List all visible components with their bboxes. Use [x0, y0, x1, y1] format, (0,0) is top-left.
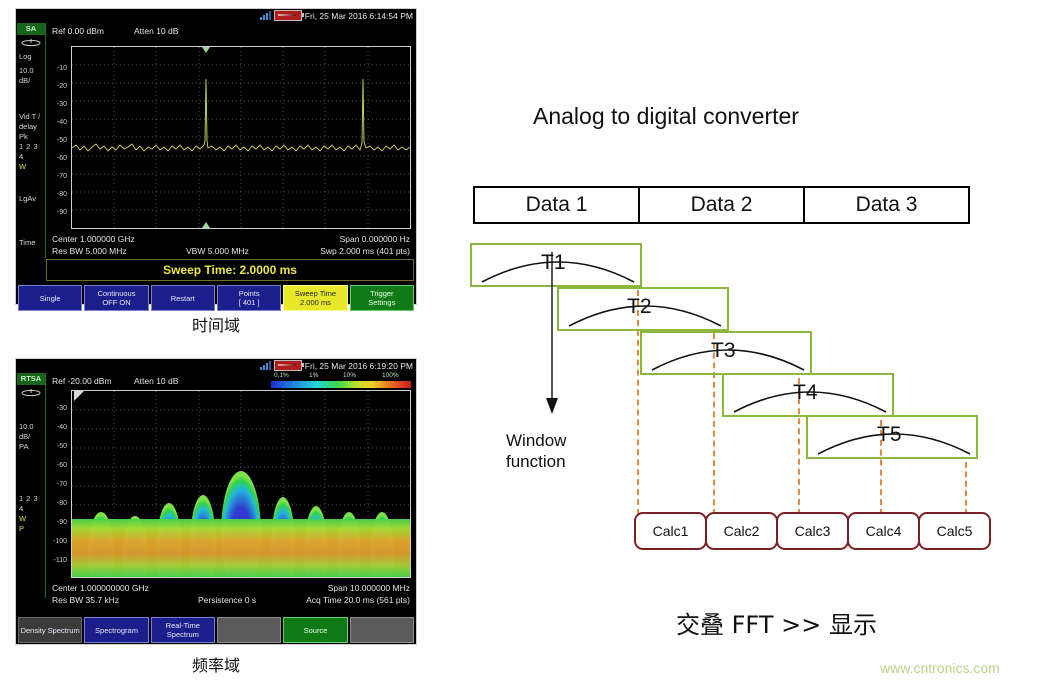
calc-block: Calc1	[634, 512, 707, 550]
softkey-trigger-settings[interactable]: Trigger Settings	[350, 285, 414, 311]
sa-attenuation: Atten 10 dB	[134, 26, 178, 36]
softkey-sublabel: Spectrum	[167, 630, 199, 639]
calc-block: Calc5	[918, 512, 991, 550]
softkey-real-time-spectrum[interactable]: Real-Time Spectrum	[151, 617, 215, 643]
softkey-label: Restart	[171, 294, 195, 303]
sa-ytick: -50	[49, 137, 67, 144]
rtsa-ytick: -80	[49, 500, 67, 507]
softkey-restart[interactable]: Restart	[151, 285, 215, 311]
sa-left-rail: SA Log 10.0 dB/ Vid T / delay Pk 1 2 3 4…	[17, 23, 46, 258]
rtsa-ytick: -60	[49, 462, 67, 469]
softkey-label: Trigger	[370, 289, 393, 298]
sa-sweep-info: Swp 2.000 ms (401 pts)	[320, 246, 410, 256]
rtsa-ytick: -90	[49, 519, 67, 526]
calc-block-row: Calc1 Calc2 Calc3 Calc4 Calc5	[634, 512, 989, 550]
sa-title-bar: Fri, 25 Mar 2016 6:14:54 PM	[16, 9, 416, 23]
sa-per-div: 10.0	[17, 66, 45, 76]
data-block: Data 2	[640, 188, 805, 222]
sa-trace-numbers: 1 2 3 4	[17, 142, 45, 162]
window-function-line1: Window	[506, 430, 566, 451]
sa-ytick: -10	[49, 65, 67, 72]
sa-domain-label: Time	[17, 238, 45, 248]
softkey-label: Points	[239, 289, 260, 298]
rtsa-persistence-flag: P	[17, 524, 45, 534]
rtsa-ref-level: Ref -20.00 dBm	[52, 376, 112, 386]
softkey-label: Source	[304, 626, 328, 635]
rtsa-ytick: -100	[45, 538, 67, 545]
density-scale-label: 10%	[343, 372, 356, 379]
softkey-density-spectrum[interactable]: Density Spectrum	[18, 617, 82, 643]
rtsa-ytick: -70	[49, 481, 67, 488]
rtsa-per-div-unit: dB/	[17, 432, 45, 442]
rtsa-res-bw: Res BW 35.7 kHz	[52, 595, 119, 605]
rtsa-attenuation: Atten 10 dB	[134, 376, 178, 386]
sa-datetime: Fri, 25 Mar 2016 6:14:54 PM	[305, 11, 413, 21]
sa-ytick: -90	[49, 209, 67, 216]
rtsa-persistence: Persistence 0 s	[198, 595, 256, 605]
network-signal-icon	[260, 11, 271, 20]
sa-vbw: VBW 5.000 MHz	[186, 246, 249, 256]
sa-average-mode: LgAv	[17, 194, 45, 204]
density-scale-label: 100%	[382, 372, 399, 379]
softkey-source[interactable]: Source	[283, 617, 347, 643]
spectrum-analyzer-screen[interactable]: Fri, 25 Mar 2016 6:14:54 PM SA Log 10.0 …	[15, 8, 417, 305]
rtsa-plot-area[interactable]	[71, 390, 411, 578]
sa-ytick: -70	[49, 173, 67, 180]
sweep-time-banner: Sweep Time: 2.0000 ms	[46, 259, 414, 281]
data-block: Data 3	[805, 188, 968, 222]
softkey-sublabel: OFF ON	[102, 298, 130, 307]
sa-mode-badge: SA	[17, 23, 45, 35]
sa-detector: Vid T /	[17, 112, 45, 122]
window-block-label: T5	[877, 423, 902, 447]
data-block-row: Data 1 Data 2 Data 3	[473, 186, 970, 224]
softkey-label: Density Spectrum	[21, 626, 80, 635]
density-color-scale	[271, 381, 411, 388]
rtsa-ytick: -30	[49, 405, 67, 412]
sa-trace-svg	[72, 47, 410, 228]
calc-block: Calc4	[847, 512, 920, 550]
rtsa-trace-numbers: 1 2 3 4	[17, 494, 45, 514]
softkey-spectrogram[interactable]: Spectrogram	[84, 617, 148, 643]
diagram-title: Analog to digital converter	[533, 103, 799, 130]
sa-ytick: -30	[49, 101, 67, 108]
density-scale-label: 1%	[309, 372, 318, 379]
window-block-label: T2	[627, 295, 652, 319]
window-block-label: T3	[711, 339, 736, 363]
sa-peak-label: Pk	[17, 132, 45, 142]
rtsa-density-svg	[72, 391, 410, 577]
softkey-sublabel: Settings	[368, 298, 395, 307]
rtsa-caption-frequency-domain: 频率域	[15, 652, 417, 676]
softkey-sublabel: 2.000 ms	[300, 298, 331, 307]
dashed-connector	[965, 462, 967, 515]
window-function-arrow-icon	[545, 252, 559, 417]
sa-ref-level: Ref 0.00 dBm	[52, 26, 104, 36]
rtsa-status-cluster: Fri, 25 Mar 2016 6:19:20 PM	[260, 360, 413, 371]
antenna-icon	[17, 38, 45, 48]
battery-icon	[274, 360, 302, 371]
sa-scale-mode: Log	[17, 52, 45, 62]
sa-softkey-bar[interactable]: Single Continuous OFF ON Restart Points …	[18, 285, 414, 311]
softkey-points[interactable]: Points [ 401 ]	[217, 285, 281, 311]
rtsa-span: Span 10.000000 MHz	[328, 583, 410, 593]
softkey-label: Continuous	[98, 289, 136, 298]
sa-per-div-unit: dB/	[17, 76, 45, 86]
softkey-sweep-time[interactable]: Sweep Time 2.000 ms	[283, 285, 347, 311]
sa-status-cluster: Fri, 25 Mar 2016 6:14:54 PM	[260, 10, 413, 21]
softkey-label: Real-Time	[166, 621, 200, 630]
rtsa-per-div: 10.0	[17, 422, 45, 432]
sa-ytick: -60	[49, 155, 67, 162]
calc-block: Calc3	[776, 512, 849, 550]
antenna-icon	[17, 388, 45, 398]
rtsa-trace-state: W	[17, 514, 45, 524]
rtsa-acq-time: Acq Time 20.0 ms (561 pts)	[306, 595, 410, 605]
softkey-blank-2[interactable]	[350, 617, 414, 643]
rtsa-ytick: -110	[45, 557, 67, 564]
realtime-spectrum-analyzer-screen[interactable]: Fri, 25 Mar 2016 6:19:20 PM RTSA 10.0 dB…	[15, 358, 417, 645]
battery-icon	[274, 10, 302, 21]
rtsa-ytick: -50	[49, 443, 67, 450]
softkey-continuous[interactable]: Continuous OFF ON	[84, 285, 148, 311]
sa-center-freq: Center 1.000000 GHz	[52, 234, 135, 244]
rtsa-softkey-bar[interactable]: Density Spectrum Spectrogram Real-Time S…	[18, 617, 414, 643]
sa-span: Span 0.000000 Hz	[340, 234, 410, 244]
softkey-label: Spectrogram	[95, 626, 138, 635]
window-block-label: T4	[793, 381, 818, 405]
sa-ytick: -20	[49, 83, 67, 90]
data-block: Data 1	[475, 188, 640, 222]
sa-ytick: -40	[49, 119, 67, 126]
rtsa-left-rail: RTSA 10.0 dB/ PA 1 2 3 4 W P	[17, 373, 46, 598]
softkey-single[interactable]: Single	[18, 285, 82, 311]
sa-res-bw: Res BW 5.000 MHz	[52, 246, 127, 256]
rtsa-ytick: -40	[49, 424, 67, 431]
rtsa-datetime: Fri, 25 Mar 2016 6:19:20 PM	[305, 361, 413, 371]
sa-ytick: -80	[49, 191, 67, 198]
watermark: www.cntronics.com	[880, 660, 1000, 676]
diagram-bottom-caption: 交叠 FFT >> 显示	[676, 605, 877, 640]
rtsa-preamp: PA	[17, 442, 45, 452]
softkey-blank-1[interactable]	[217, 617, 281, 643]
window-function-line2: function	[506, 451, 566, 472]
sa-detector-delay: delay	[17, 122, 45, 132]
rtsa-title-bar: Fri, 25 Mar 2016 6:19:20 PM	[16, 359, 416, 373]
softkey-label: Sweep Time	[295, 289, 336, 298]
softkey-sublabel: [ 401 ]	[239, 298, 260, 307]
rtsa-center-freq: Center 1.000000000 GHz	[52, 583, 149, 593]
sa-trace-state: W	[17, 162, 45, 172]
rtsa-mode-badge: RTSA	[17, 373, 45, 385]
density-scale-label: 0.1%	[274, 372, 289, 379]
window-function-label: Window function	[506, 430, 566, 472]
sa-plot-area[interactable]	[71, 46, 411, 229]
softkey-label: Single	[40, 294, 61, 303]
network-signal-icon	[260, 361, 271, 370]
sa-caption-time-domain: 时间域	[15, 312, 417, 336]
calc-block: Calc2	[705, 512, 778, 550]
